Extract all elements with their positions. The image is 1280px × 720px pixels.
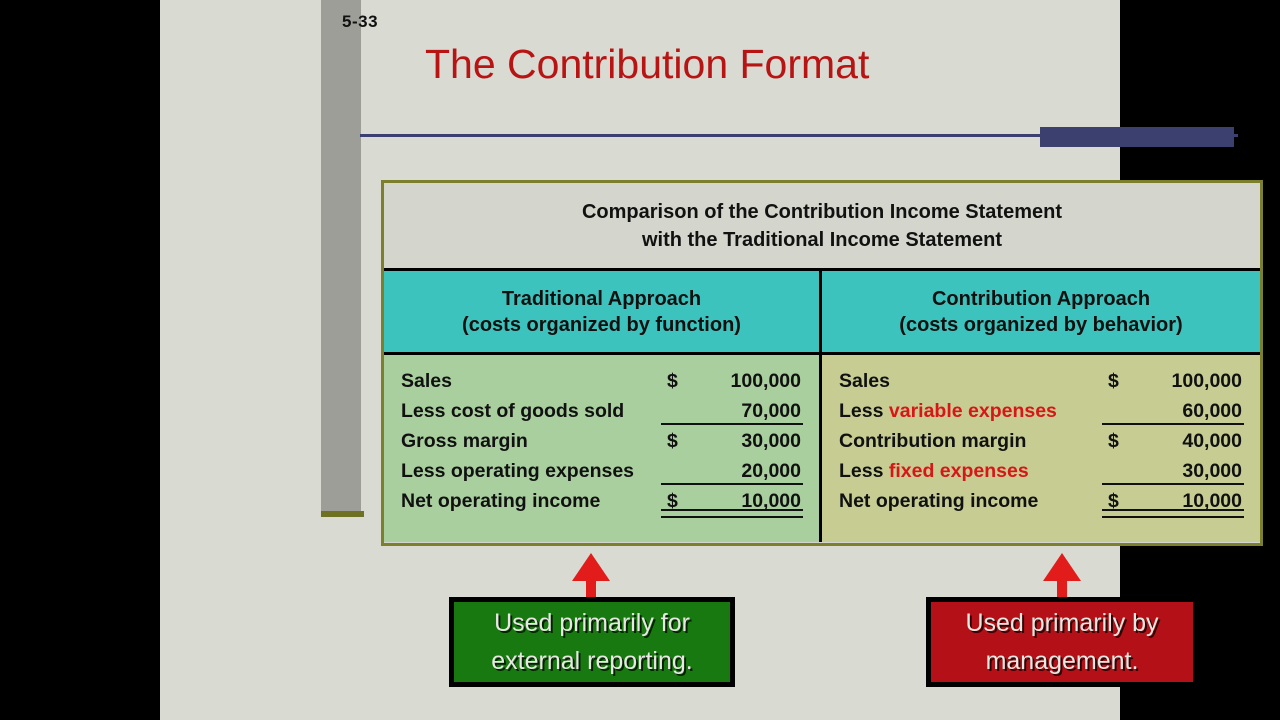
callout-line-1: Used primarily by [965,604,1158,642]
column-body-traditional: Sales $100,000 Less cost of goods sold 7… [384,355,819,542]
amount-value: 40,000 [1182,430,1242,452]
table-row: Net operating income $10,000 [839,486,1244,516]
amount-value: 70,000 [741,400,801,422]
row-label-text: Sales [839,370,890,392]
slide-number: 5-33 [342,12,378,32]
row-amount: 20,000 [653,456,803,486]
callout-line-2: management. [986,642,1139,680]
page-title: The Contribution Format [425,41,869,88]
table-caption-line-2: with the Traditional Income Statement [642,226,1002,254]
table-row: Net operating income $10,000 [401,486,803,516]
currency-symbol: $ [1108,486,1119,516]
row-label-highlight: fixed expenses [889,460,1029,482]
column-header-traditional: Traditional Approach (costs organized by… [384,271,819,355]
table-row: Less operating expenses 20,000 [401,456,803,486]
row-label: Net operating income [401,486,653,516]
amount-value: 20,000 [741,460,801,482]
row-amount: $30,000 [653,426,803,456]
row-amount: $100,000 [1094,366,1244,396]
row-label: Net operating income [839,486,1094,516]
amount-value: 10,000 [741,490,801,512]
currency-symbol: $ [667,486,678,516]
row-label: Gross margin [401,426,653,456]
row-amount: $10,000 [1094,486,1244,516]
table-row: Less variable expenses 60,000 [839,396,1244,426]
row-amount: $40,000 [1094,426,1244,456]
table-row: Contribution margin $40,000 [839,426,1244,456]
row-label: Contribution margin [839,426,1094,456]
amount-value: 10,000 [1182,490,1242,512]
currency-symbol: $ [1108,426,1119,456]
table-row: Sales $100,000 [839,366,1244,396]
amount-value: 30,000 [741,430,801,452]
table-row: Less cost of goods sold 70,000 [401,396,803,426]
row-amount: 60,000 [1094,396,1244,426]
row-label-highlight: variable expenses [889,400,1057,422]
slide-root: 5-33 The Contribution Format Comparison … [0,0,1280,720]
row-label: Less variable expenses [839,396,1094,426]
callout-external-reporting: Used primarily for external reporting. [449,597,735,687]
table-columns: Traditional Approach (costs organized by… [384,271,1260,542]
row-label: Sales [401,366,653,396]
amount-value: 100,000 [731,370,802,392]
row-amount: $100,000 [653,366,803,396]
comparison-table: Comparison of the Contribution Income St… [381,180,1263,546]
amount-value: 30,000 [1182,460,1242,482]
slide-canvas: 5-33 The Contribution Format Comparison … [160,0,1120,720]
row-label: Less operating expenses [401,456,653,486]
left-decorative-band [321,0,361,511]
title-accent-tab [1040,127,1234,147]
currency-symbol: $ [667,426,678,456]
column-contribution-approach: Contribution Approach (costs organized b… [822,271,1260,542]
currency-symbol: $ [1108,366,1119,396]
column-header-contribution-title: Contribution Approach [932,286,1150,312]
row-label-text: Less [839,460,889,482]
row-label: Less fixed expenses [839,456,1094,486]
row-label-text: Less [839,400,889,422]
callout-management: Used primarily by management. [926,597,1198,687]
callout-line-2: external reporting. [491,642,693,680]
amount-value: 60,000 [1182,400,1242,422]
column-header-contribution-subtitle: (costs organized by behavior) [899,312,1182,338]
table-row: Less fixed expenses 30,000 [839,456,1244,486]
column-header-traditional-title: Traditional Approach [502,286,701,312]
table-caption: Comparison of the Contribution Income St… [384,183,1260,271]
column-header-traditional-subtitle: (costs organized by function) [462,312,741,338]
table-row: Gross margin $30,000 [401,426,803,456]
callout-line-1: Used primarily for [494,604,690,642]
left-band-foot-accent [321,511,364,517]
column-body-contribution: Sales $100,000 Less variable expenses 60… [822,355,1260,542]
table-row: Sales $100,000 [401,366,803,396]
row-label-text: Contribution margin [839,430,1026,452]
currency-symbol: $ [667,366,678,396]
row-label: Sales [839,366,1094,396]
amount-value: 100,000 [1172,370,1243,392]
row-label-text: Net operating income [839,490,1038,512]
row-amount: 30,000 [1094,456,1244,486]
row-amount: $10,000 [653,486,803,516]
row-amount: 70,000 [653,396,803,426]
column-header-contribution: Contribution Approach (costs organized b… [822,271,1260,355]
column-traditional-approach: Traditional Approach (costs organized by… [384,271,822,542]
table-caption-line-1: Comparison of the Contribution Income St… [582,198,1062,226]
row-label: Less cost of goods sold [401,396,653,426]
